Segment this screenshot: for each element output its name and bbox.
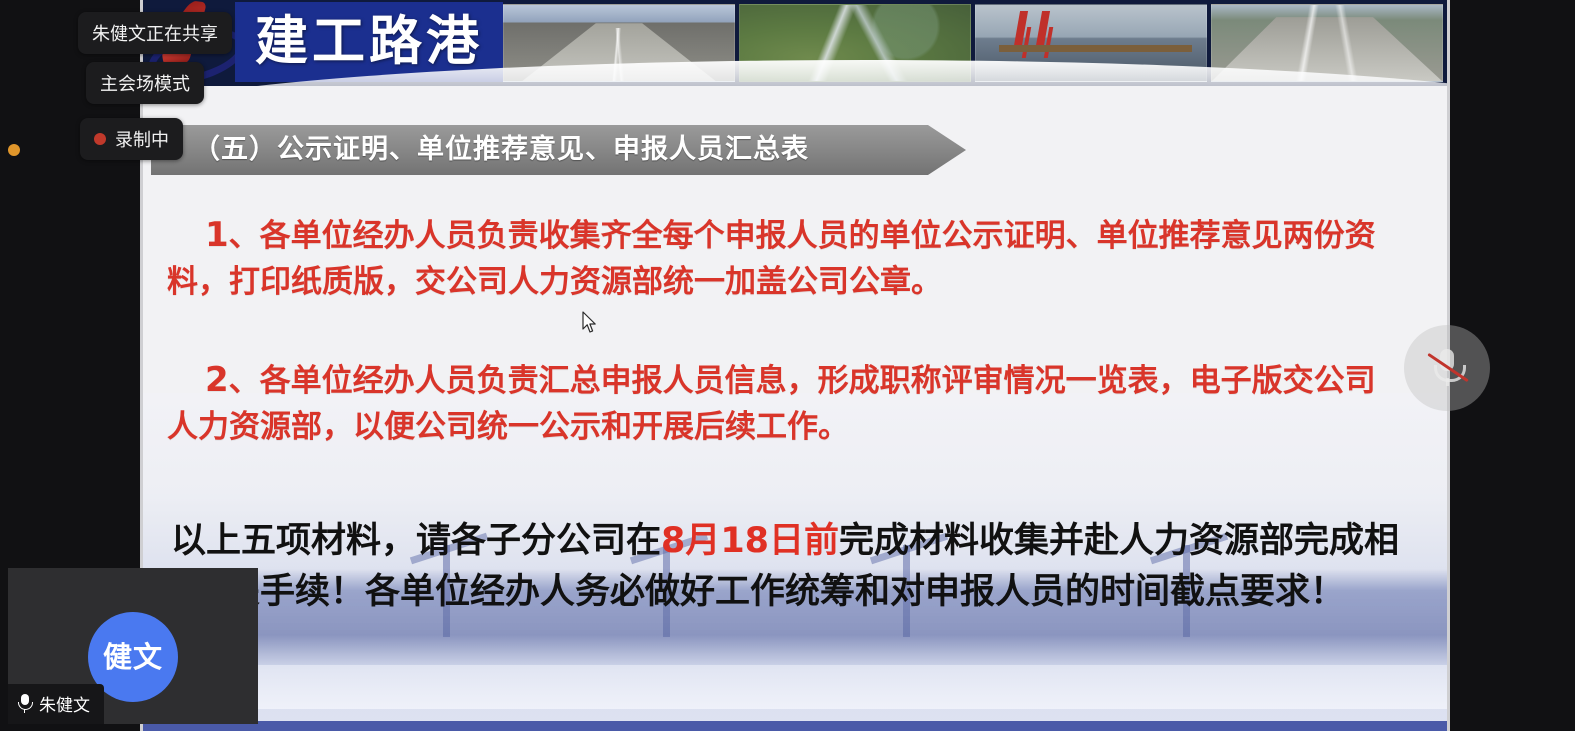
- microphone-muted-glyph: [1432, 347, 1462, 389]
- slide-banner: 建工路港: [143, 0, 1447, 86]
- slide-bottom-bar: [143, 721, 1447, 731]
- summary-deadline: 8月18日前: [661, 521, 839, 561]
- slide-header-wrapper: （五）公示证明、单位推荐意见、申报人员汇总表: [151, 125, 966, 175]
- participant-nameplate: 朱健文: [8, 684, 104, 724]
- meeting-mode-label: 主会场模式: [100, 70, 190, 96]
- recording-status-label: 录制中: [115, 126, 169, 152]
- recording-status-badge[interactable]: 录制中: [80, 118, 183, 160]
- microphone-muted-icon[interactable]: [1404, 325, 1490, 411]
- participant-video-tile[interactable]: 健文 朱健文: [8, 568, 258, 724]
- watermark-water: [143, 665, 1447, 709]
- slide-header-title: （五）公示证明、单位推荐意见、申报人员汇总表: [151, 125, 966, 175]
- slide-body: 1、各单位经办人员负责收集齐全每个申报人员的单位公示证明、单位推荐意见两份资料，…: [143, 186, 1447, 731]
- left-edge-status-dot: [8, 144, 20, 156]
- slide-summary: 以上五项材料，请各子分公司在8月18日前完成材料收集并赴人力资源部完成相关手续！…: [143, 516, 1447, 618]
- microphone-icon: [18, 694, 31, 713]
- participant-name-label: 朱健文: [39, 691, 90, 716]
- paragraph-1-text: 、各单位经办人员负责收集齐全每个申报人员的单位公示证明、单位推荐意见两份资料，打…: [167, 218, 1376, 300]
- paragraph-2-text: 、各单位经办人员负责汇总申报人员信息，形成职称评审情况一览表，电子版交公司人力资…: [167, 363, 1376, 445]
- shared-screen-content[interactable]: 建工路港 （五）公示证明、单位推荐意见、申报人员汇总表 1: [140, 0, 1450, 731]
- summary-part-1: 以上五项材料，请各子分公司在: [171, 521, 661, 561]
- slide-paragraph-2: 2、各单位经办人员负责汇总申报人员信息，形成职称评审情况一览表，电子版交公司人力…: [143, 357, 1447, 450]
- sharing-status-badge: 朱健文正在共享: [78, 12, 232, 54]
- recording-dot-icon: [94, 133, 106, 145]
- paragraph-1-number: 1: [205, 215, 229, 255]
- paragraph-2-number: 2: [205, 360, 229, 400]
- meeting-app-root: 建工路港 （五）公示证明、单位推荐意见、申报人员汇总表 1: [0, 0, 1575, 731]
- meeting-mode-badge[interactable]: 主会场模式: [86, 62, 204, 104]
- sharing-status-label: 朱健文正在共享: [92, 20, 218, 46]
- slide-paragraph-1: 1、各单位经办人员负责收集齐全每个申报人员的单位公示证明、单位推荐意见两份资料，…: [143, 212, 1447, 305]
